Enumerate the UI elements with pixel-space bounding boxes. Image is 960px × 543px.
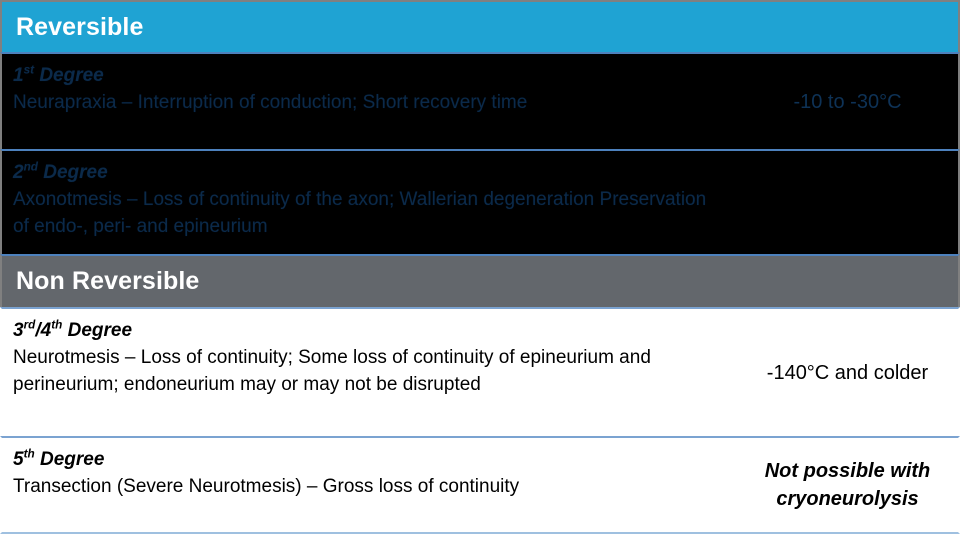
row-temperature-cell: Not possible with cryoneurolysis	[737, 438, 958, 532]
section-banner-reversible: Reversible	[0, 0, 960, 52]
degree-suffix: Degree	[38, 162, 108, 183]
temperature-value: -140°C and colder	[767, 359, 928, 387]
section-banner-reversible-label: Reversible	[16, 13, 143, 42]
degree-number: 1	[13, 65, 24, 86]
section-banner-non-reversible: Non Reversible	[0, 254, 960, 307]
degree-ordinal: st	[24, 64, 34, 77]
row-temperature-cell	[737, 151, 958, 254]
degree-ordinal-secondary: th	[51, 319, 62, 332]
degree-suffix: Degree	[62, 320, 132, 341]
row-temperature-cell: -10 to -30°C	[737, 54, 958, 149]
section-banner-non-reversible-label: Non Reversible	[16, 267, 199, 296]
row-description-cell: 1st Degree Neurapraxia – Interruption of…	[2, 54, 737, 149]
degree-label: 3rd/4th Degree	[13, 318, 727, 344]
degree-separator: /4	[35, 320, 51, 341]
table-row: 3rd/4th Degree Neurotmesis – Loss of con…	[0, 307, 960, 436]
degree-suffix: Degree	[35, 449, 105, 470]
degree-label: 2nd Degree	[13, 160, 727, 186]
row-description-cell: 3rd/4th Degree Neurotmesis – Loss of con…	[2, 309, 737, 436]
degree-ordinal: rd	[24, 319, 36, 332]
degree-number: 3	[13, 320, 24, 341]
table-row: 5th Degree Transection (Severe Neurotmes…	[0, 436, 960, 534]
nerve-injury-classification-table: Reversible 1st Degree Neurapraxia – Inte…	[0, 0, 960, 543]
degree-ordinal: th	[24, 448, 35, 461]
temperature-value: -10 to -30°C	[793, 88, 901, 116]
row-description-text: Axonotmesis – Loss of continuity of the …	[13, 187, 727, 241]
degree-number: 5	[13, 449, 24, 470]
row-description-cell: 5th Degree Transection (Severe Neurotmes…	[2, 438, 737, 532]
row-description-text: Transection (Severe Neurotmesis) – Gross…	[13, 474, 727, 501]
temperature-unavailable-note: Not possible with cryoneurolysis	[747, 457, 948, 513]
degree-label: 5th Degree	[13, 447, 727, 473]
degree-ordinal: nd	[24, 161, 38, 174]
row-description-text: Neurotmesis – Loss of continuity; Some l…	[13, 345, 727, 399]
table-row: 1st Degree Neurapraxia – Interruption of…	[0, 52, 960, 149]
row-description-text: Neurapraxia – Interruption of conduction…	[13, 90, 727, 117]
row-temperature-cell: -140°C and colder	[737, 309, 958, 436]
degree-number: 2	[13, 162, 24, 183]
degree-suffix: Degree	[34, 65, 104, 86]
table-row: 2nd Degree Axonotmesis – Loss of continu…	[0, 149, 960, 254]
degree-label: 1st Degree	[13, 63, 727, 89]
row-description-cell: 2nd Degree Axonotmesis – Loss of continu…	[2, 151, 737, 254]
